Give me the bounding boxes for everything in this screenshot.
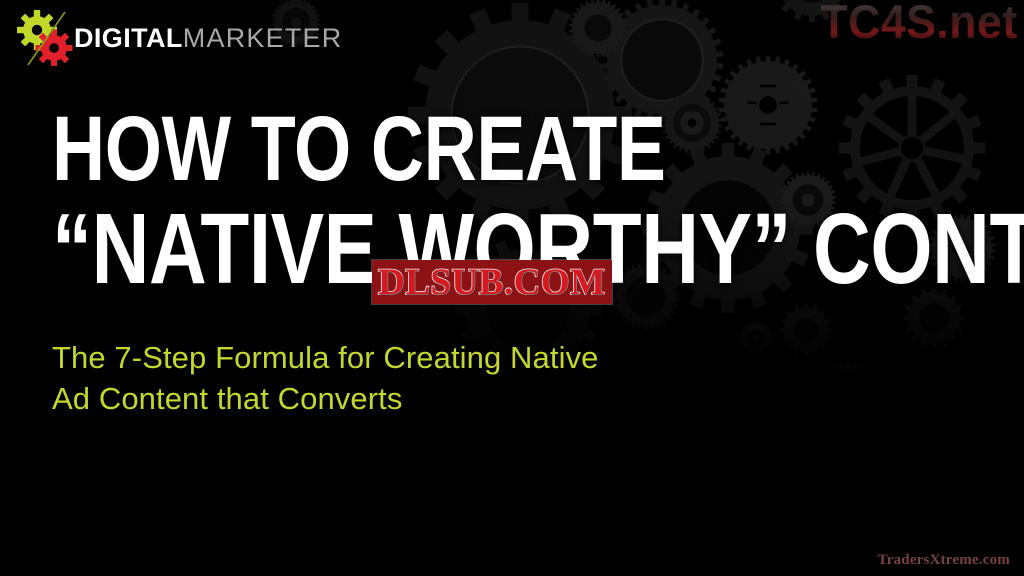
- watermark-tc4s: TC4S.net: [821, 0, 1018, 45]
- subtitle-line-2: Ad Content that Converts: [52, 378, 772, 419]
- brand-wordmark-bold: DIGITAL: [74, 23, 183, 53]
- watermark-tradersxtreme: TradersXtreme.com: [878, 553, 1010, 568]
- slide-subtitle: The 7-Step Formula for Creating Native A…: [52, 337, 772, 419]
- brand-wordmark: DIGITALMARKETER: [74, 25, 342, 52]
- headline-line-1: HOW TO CREATE: [52, 106, 812, 192]
- gear-shape: [857, 403, 888, 434]
- subtitle-line-1: The 7-Step Formula for Creating Native: [52, 337, 772, 378]
- gear-shape: [780, 304, 832, 356]
- digitalmarketer-logo: DIGITALMARKETER: [14, 9, 342, 67]
- two-interlocking-gears-icon: [14, 10, 76, 66]
- gear-shape: [828, 360, 868, 400]
- watermark-dlsub-text: DLSUB.COM: [378, 264, 606, 301]
- watermark-dlsub-banner: DLSUB.COM: [372, 260, 612, 304]
- gear-shape: [569, 0, 627, 57]
- brand-wordmark-light: MARKETER: [183, 23, 343, 53]
- presentation-slide: DIGITALMARKETER HOW TO CREATE “NATIVE WO…: [0, 0, 1024, 576]
